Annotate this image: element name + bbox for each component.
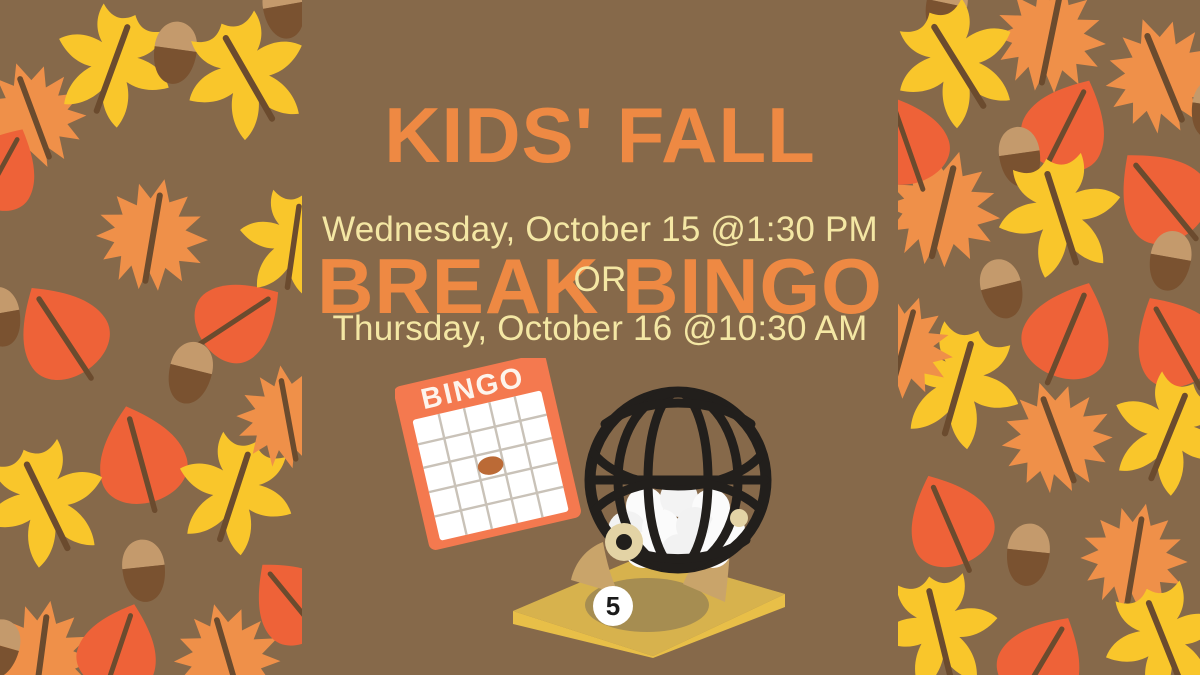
bingo-cage-base: [513, 554, 785, 658]
session-1-text: Wednesday, October 15 @1:30 PM: [0, 205, 1200, 255]
session-2-text: Thursday, October 16 @10:30 AM: [0, 304, 1200, 354]
session-separator: OR: [0, 255, 1200, 305]
bingo-illustration: BINGO: [395, 358, 805, 658]
ball-number: 5: [606, 591, 620, 621]
bingo-cage-icon: [590, 392, 766, 570]
title-line-1: KIDS' FALL: [0, 98, 1200, 174]
cage-axle-knob: [730, 509, 748, 527]
drawn-ball: 5: [593, 586, 633, 626]
poster-canvas: KIDS' FALL BREAK BINGO Wednesday, Octobe…: [0, 0, 1200, 675]
bingo-card-icon: BINGO: [395, 358, 582, 551]
session-details: Wednesday, October 15 @1:30 PM OR Thursd…: [0, 205, 1200, 354]
